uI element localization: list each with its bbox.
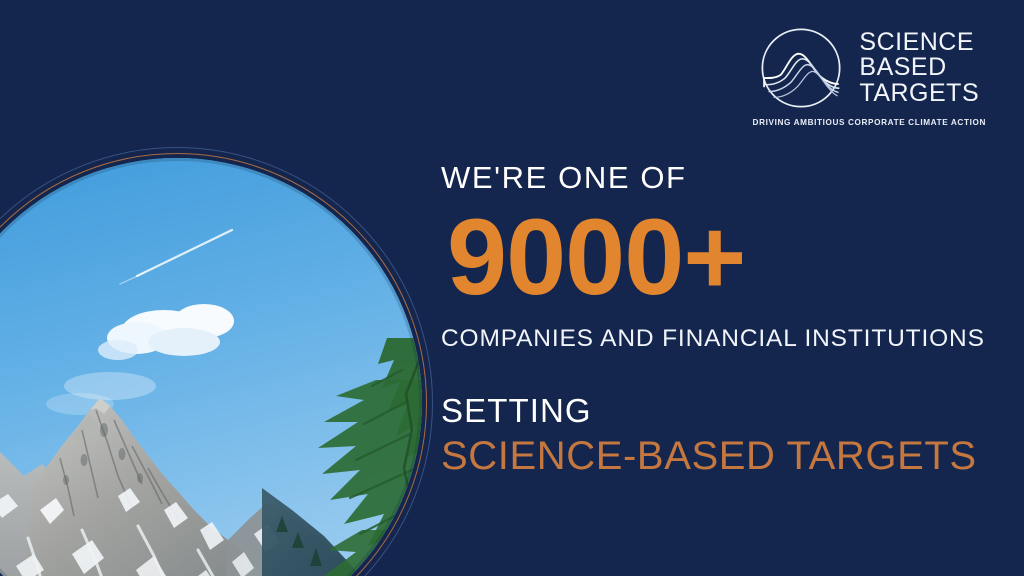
headline-copy-block: WE'RE ONE OF 9000+ COMPANIES AND FINANCI… — [441, 162, 1001, 476]
sbt-logo-lockup: SCIENCE BASED TARGETS DRIVING AMBITIOUS … — [753, 26, 986, 127]
logo-word-science: SCIENCE — [859, 30, 979, 56]
mountain-photo-wrapper — [0, 158, 422, 576]
logo-tagline: DRIVING AMBITIOUS CORPORATE CLIMATE ACTI… — [753, 118, 986, 127]
promo-slide: SCIENCE BASED TARGETS DRIVING AMBITIOUS … — [0, 0, 1024, 576]
kicker-text: WE'RE ONE OF — [441, 162, 1001, 193]
subline-text: COMPANIES AND FINANCIAL INSTITUTIONS — [441, 327, 1001, 352]
logo-word-based: BASED — [859, 55, 979, 81]
company-count-number: 9000+ — [447, 203, 1001, 311]
mountain-landscape-circular-photo — [0, 158, 422, 576]
logo-word-targets: TARGETS — [859, 81, 979, 107]
setting-text: SETTING — [441, 394, 1001, 427]
science-based-targets-wave-emblem — [759, 26, 843, 110]
logo-wordmark: SCIENCE BASED TARGETS — [859, 30, 979, 107]
science-based-targets-text: SCIENCE-BASED TARGETS — [441, 436, 1001, 476]
logo-row: SCIENCE BASED TARGETS — [759, 26, 979, 110]
mountain-photo-illustration — [0, 158, 422, 576]
